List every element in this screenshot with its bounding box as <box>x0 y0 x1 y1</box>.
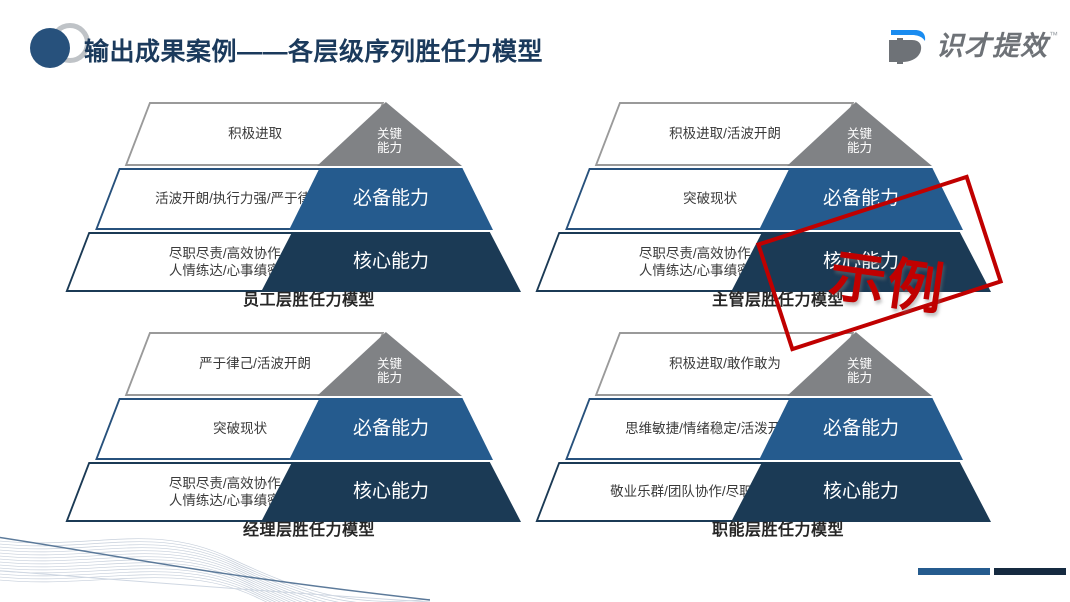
key-tier-label-line2: 能力 <box>847 371 872 385</box>
model-caption: 员工层胜任力模型 <box>85 286 505 310</box>
core-competency-line2: 人情练达/心事缜密 <box>169 262 281 279</box>
key-tier-label-line2: 能力 <box>377 371 402 385</box>
page-title: 输出成果案例——各层级序列胜任力模型 <box>84 32 543 68</box>
core-competency-line2: 人情练达/心事缜密 <box>639 262 751 279</box>
core-competency-line1: 尽职尽责/高效协作 <box>169 245 281 262</box>
core-competency-tier: 核心能力 <box>261 232 521 292</box>
pyramid-diagram: 严于律己/活波开朗 突破现状 尽职尽责/高效协作 人情练达/心事缜密 关键 能力 <box>85 330 505 505</box>
footer-accent-bar-navy <box>994 568 1066 575</box>
brand-logo: 识才提效™ <box>885 24 1048 68</box>
core-competency-tier: 核心能力 <box>731 232 991 292</box>
brand-name: 识才提效™ <box>936 33 1048 60</box>
slide-header: 输出成果案例——各层级序列胜任力模型 识才提效™ <box>0 0 1070 92</box>
key-competency-text: 积极进取/敢作敢为 <box>663 355 787 372</box>
footer-accent-bar-blue <box>918 568 990 575</box>
competency-model-functional: 积极进取/敢作敢为 思维敏捷/情绪稳定/活泼开朗 敬业乐群/团队协作/尽职尽责 … <box>555 330 975 548</box>
key-tier-label-line1: 关键 <box>847 127 872 141</box>
logo-disc-shape <box>30 28 70 68</box>
key-tier-label-line1: 关键 <box>377 127 402 141</box>
core-competency-line2: 人情练达/心事缜密 <box>169 492 281 509</box>
pyramid-diagram: 积极进取/活波开朗 突破现状 尽职尽责/高效协作 人情练达/心事缜密 关键 能力 <box>555 100 975 275</box>
must-competency-text: 突破现状 <box>207 420 273 437</box>
brand-name-text: 识才提效 <box>936 31 1048 61</box>
model-caption: 职能层胜任力模型 <box>555 516 975 540</box>
key-competency-text: 严于律己/活波开朗 <box>193 355 317 372</box>
key-competency-text: 积极进取 <box>222 125 288 142</box>
core-competency-text: 尽职尽责/高效协作 人情练达/心事缜密 <box>633 245 757 280</box>
must-competency-text: 突破现状 <box>677 190 743 207</box>
must-competency-tier: 必备能力 <box>759 398 963 460</box>
key-tier-label-line2: 能力 <box>847 141 872 155</box>
slide: 输出成果案例——各层级序列胜任力模型 识才提效™ 积极进取 <box>0 0 1070 602</box>
competency-model-supervisor: 积极进取/活波开朗 突破现状 尽职尽责/高效协作 人情练达/心事缜密 关键 能力 <box>555 100 975 318</box>
key-tier-label-line1: 关键 <box>847 357 872 371</box>
competency-model-grid: 积极进取 活波开朗/执行力强/严于律己 尽职尽责/高效协作 人情练达/心事缜密 … <box>0 92 1070 532</box>
must-competency-tier: 必备能力 <box>289 398 493 460</box>
competency-model-employee: 积极进取 活波开朗/执行力强/严于律己 尽职尽责/高效协作 人情练达/心事缜密 … <box>85 100 505 318</box>
core-competency-tier: 核心能力 <box>731 462 991 522</box>
core-competency-text: 尽职尽责/高效协作 人情练达/心事缜密 <box>163 245 287 280</box>
must-competency-tier: 必备能力 <box>289 168 493 230</box>
pyramid-diagram: 积极进取 活波开朗/执行力强/严于律己 尽职尽责/高效协作 人情练达/心事缜密 … <box>85 100 505 275</box>
overlapping-circles-logo-icon <box>28 22 90 72</box>
core-competency-line1: 尽职尽责/高效协作 <box>169 475 281 492</box>
core-competency-line1: 尽职尽责/高效协作 <box>639 245 751 262</box>
trademark-symbol: ™ <box>1049 31 1059 40</box>
key-tier-label-line1: 关键 <box>377 357 402 371</box>
key-tier-label-line2: 能力 <box>377 141 402 155</box>
pyramid-diagram: 积极进取/敢作敢为 思维敏捷/情绪稳定/活泼开朗 敬业乐群/团队协作/尽职尽责 … <box>555 330 975 505</box>
core-competency-text: 尽职尽责/高效协作 人情练达/心事缜密 <box>163 475 287 510</box>
stylized-d-logo-icon <box>885 26 929 66</box>
model-caption: 主管层胜任力模型 <box>555 286 975 310</box>
footer-wave-decoration <box>0 512 430 602</box>
must-competency-tier: 必备能力 <box>759 168 963 230</box>
key-competency-text: 积极进取/活波开朗 <box>663 125 787 142</box>
